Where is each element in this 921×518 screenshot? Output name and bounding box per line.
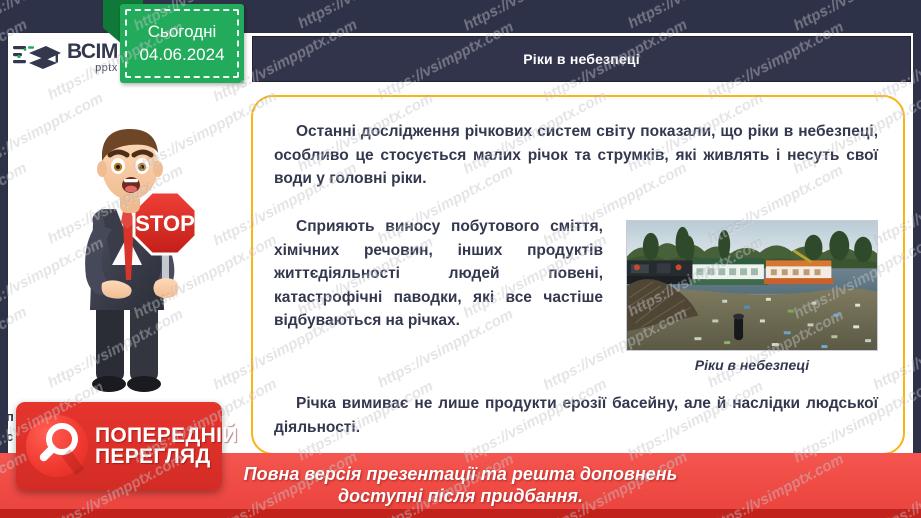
date-badge-label: Сьогодні <box>148 22 217 42</box>
preview-badge[interactable]: ПОПЕРЕДНІЙ ПЕРЕГЛЯД <box>16 402 222 490</box>
presentation-slide: п с ВСІМ pptx Сьогодні 04.06.2024 <box>0 0 921 518</box>
businessman-with-stop-sign-illustration: STOP <box>38 105 228 405</box>
photo-caption: Ріки в небезпеці <box>626 357 878 373</box>
paragraph-2: Сприяють виносу побутового сміття, хіміч… <box>274 215 603 333</box>
paragraph-1: Останні дослідження річкових систем світ… <box>274 120 878 191</box>
preview-badge-text: ПОПЕРЕДНІЙ ПЕРЕГЛЯД <box>95 425 238 468</box>
polluted-river-photo <box>626 220 878 351</box>
logo-subtitle: pptx <box>67 63 118 74</box>
slide-title-bar: Ріки в небезпеці <box>252 36 911 82</box>
date-badge-value: 04.06.2024 <box>139 45 224 65</box>
logo-title: ВСІМ <box>67 40 118 63</box>
today-date-badge: Сьогодні 04.06.2024 <box>120 4 244 83</box>
watermark-text: https://vsimppptx.com <box>460 0 609 34</box>
page-title: Ріки в небезпеці <box>523 51 640 67</box>
svg-text:STOP: STOP <box>135 211 195 236</box>
logo-wordmark: ВСІМ pptx <box>67 41 118 74</box>
preview-line-2: ПЕРЕГЛЯД <box>95 446 238 467</box>
preview-line-1: ПОПЕРЕДНІЙ <box>95 425 238 446</box>
watermark-text: https://vsimppptx.com <box>790 0 921 34</box>
graduation-cap-icon <box>12 38 62 78</box>
magnifier-icon <box>26 415 88 477</box>
watermark-text: https://vsimpptx.com <box>625 0 766 31</box>
promo-line-2: доступні після придбання. <box>338 486 583 507</box>
paragraph-3: Річка вимиває не лише продукти ерозії ба… <box>274 392 878 439</box>
watermark-text: https://vsimpptx.com <box>0 0 106 31</box>
watermark-text: https://vsimpptx.com <box>295 0 436 31</box>
promo-line-1: Повна версія презентації та решта доповн… <box>244 464 678 485</box>
